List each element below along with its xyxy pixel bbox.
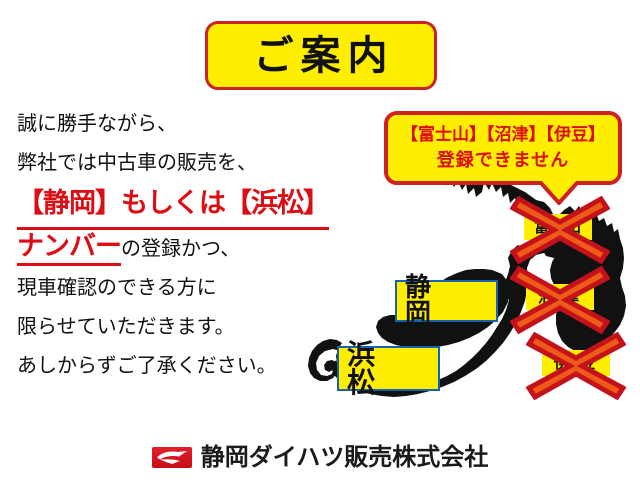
notice-text-block: 誠に勝手ながら、 弊社では中古車の販売を、 【静岡】もしくは【浜松】 ナンバーの… <box>17 104 337 385</box>
daihatsu-d-glyph <box>156 450 188 465</box>
map-label-shizuoka: 静 岡 <box>395 280 498 322</box>
map-label-izu: 伊 豆 <box>542 350 610 376</box>
notice-line-6: 限らせていただきます。 <box>17 307 337 346</box>
map-label-fujisan: 富士山 <box>524 214 592 240</box>
notice-line-3: 【静岡】もしくは【浜松】 <box>17 182 337 226</box>
callout-line-1: 【富士山】【沼津】【伊豆】 <box>383 123 623 148</box>
notice-line-3-text: 【静岡】もしくは【浜松】 <box>17 182 329 230</box>
company-footer: 静岡ダイハツ販売株式会社 <box>0 437 640 477</box>
notice-line-4: ナンバーの登録かつ、 <box>17 226 337 268</box>
map-label-numazu: 沼 津 <box>526 284 594 310</box>
notice-line-2: 弊社では中古車の販売を、 <box>17 143 337 182</box>
page-title: ご案内 <box>248 36 395 76</box>
notice-line-4-red: ナンバー <box>17 231 121 266</box>
title-banner: ご案内 <box>205 21 437 90</box>
map-label-hamamatsu: 浜 松 <box>337 346 440 391</box>
callout-text: 【富士山】【沼津】【伊豆】 登録できません <box>383 123 623 173</box>
poster-canvas: ご案内 誠に勝手ながら、 弊社では中古車の販売を、 【静岡】もしくは【浜松】 ナ… <box>0 0 640 480</box>
notice-line-1: 誠に勝手ながら、 <box>17 104 337 143</box>
notice-line-5: 現車確認のできる方に <box>17 268 337 307</box>
notice-line-4-black: の登録かつ、 <box>121 236 240 260</box>
daihatsu-logo-icon <box>152 447 192 468</box>
shizuoka-map: 静 岡 浜 松 富士山 沼 津 伊 豆 <box>296 170 640 428</box>
company-name: 静岡ダイハツ販売株式会社 <box>201 445 489 469</box>
notice-line-7: あしからずご了承ください。 <box>17 346 337 385</box>
blocked-plates-callout: 【富士山】【沼津】【伊豆】 登録できません <box>383 110 623 206</box>
callout-line-2: 登録できません <box>383 148 623 173</box>
